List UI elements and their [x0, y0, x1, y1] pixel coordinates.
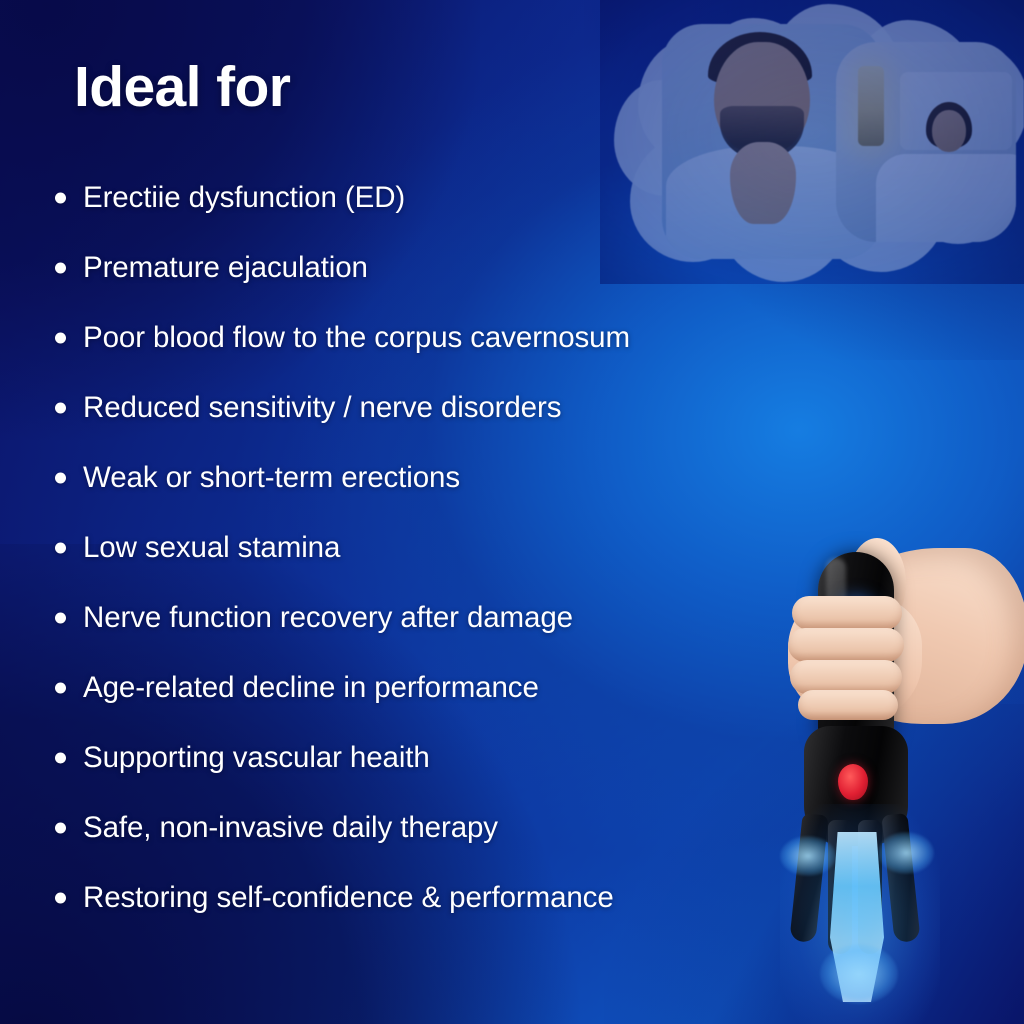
list-item-label: Age-related decline in performance — [83, 671, 539, 705]
list-item-label: Nerve function recovery after damage — [83, 601, 573, 635]
finger — [792, 596, 902, 630]
bullet-dot-icon — [55, 403, 66, 414]
list-item: Nerve function recovery after damage — [52, 583, 812, 653]
list-item: Reduced sensitivity / nerve disorders — [52, 373, 812, 443]
list-item: Restoring self-confidence & performance — [52, 863, 812, 933]
bullet-dot-icon — [55, 193, 66, 204]
list-item: Supporting vascular heaith — [52, 723, 812, 793]
list-item-label: Poor blood flow to the corpus cavernosum — [83, 321, 630, 355]
bullet-dot-icon — [55, 823, 66, 834]
list-item-label: Reduced sensitivity / nerve disorders — [83, 391, 561, 425]
bullet-dot-icon — [55, 893, 66, 904]
list-item: Poor blood flow to the corpus cavernosum — [52, 303, 812, 373]
device-in-hand-photo — [746, 514, 1014, 1024]
bullet-dot-icon — [55, 263, 66, 274]
bullet-dot-icon — [55, 753, 66, 764]
list-item-label: Safe, non-invasive daily therapy — [83, 811, 498, 845]
device-prong — [789, 813, 828, 943]
bullet-dot-icon — [55, 473, 66, 484]
list-item-label: Restoring self-confidence & performance — [83, 881, 614, 915]
list-item-label: Weak or short-term erections — [83, 461, 460, 495]
thought-cloud-blue-wash — [600, 0, 1024, 284]
red-accent-element — [838, 764, 868, 800]
list-item-label: Supporting vascular heaith — [83, 741, 430, 775]
list-item-label: Premature ejaculation — [83, 251, 368, 285]
bullet-dot-icon — [55, 333, 66, 344]
list-item-label: Erectiie dysfunction (ED) — [83, 181, 405, 215]
energy-spark — [878, 832, 934, 874]
bullet-dot-icon — [55, 543, 66, 554]
finger — [798, 690, 898, 720]
page-title: Ideal for — [74, 58, 290, 118]
list-item: Low sexual stamina — [52, 513, 812, 583]
list-item: Weak or short-term erections — [52, 443, 812, 513]
finger — [790, 660, 902, 694]
list-item: Age-related decline in performance — [52, 653, 812, 723]
energy-spark — [820, 944, 898, 1004]
energy-spark — [780, 836, 836, 876]
finger — [788, 628, 904, 662]
bullet-dot-icon — [55, 683, 66, 694]
list-item: Safe, non-invasive daily therapy — [52, 793, 812, 863]
poster-canvas: Ideal for Erectiie dysfunction (ED) Prem… — [0, 0, 1024, 1024]
bullet-dot-icon — [55, 613, 66, 624]
list-item-label: Low sexual stamina — [83, 531, 340, 565]
